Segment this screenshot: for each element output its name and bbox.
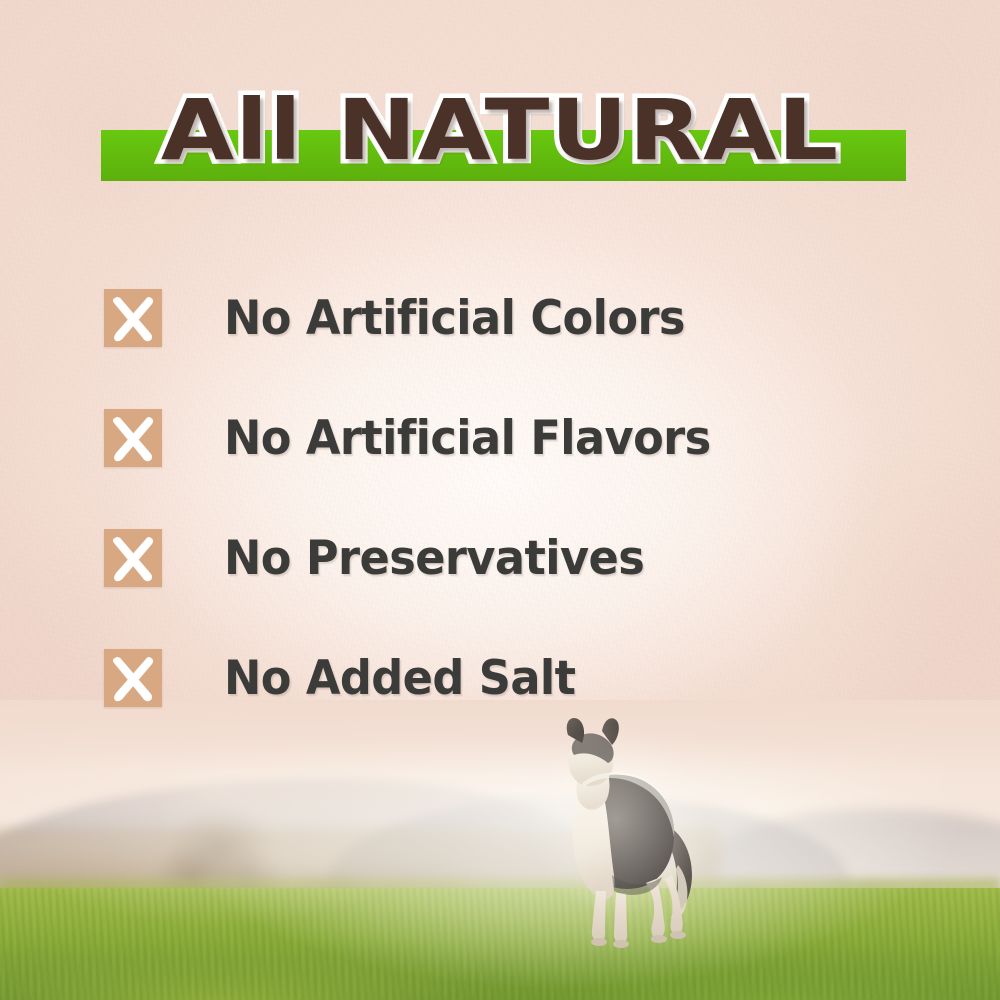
- list-item-label: No Preservatives: [224, 531, 644, 586]
- list-item-label: No Artificial Colors: [224, 291, 685, 346]
- border-collie-dog: [520, 715, 710, 950]
- list-item-label: No Added Salt: [224, 651, 575, 706]
- page-title: All NATURAL: [0, 78, 1000, 182]
- list-item: No Added Salt: [0, 618, 1000, 738]
- all-natural-product-panel: All NATURAL No Artificial Colors No Arti…: [0, 0, 1000, 1000]
- x-mark-icon: [104, 409, 162, 467]
- list-item-label: No Artificial Flavors: [224, 411, 711, 466]
- x-mark-icon: [104, 649, 162, 707]
- headline-block: All NATURAL: [0, 78, 1000, 188]
- list-item: No Preservatives: [0, 498, 1000, 618]
- list-item: No Artificial Colors: [0, 258, 1000, 378]
- x-mark-icon: [104, 289, 162, 347]
- list-item: No Artificial Flavors: [0, 378, 1000, 498]
- x-mark-icon: [104, 529, 162, 587]
- landscape-photo-scene: [0, 700, 1000, 1000]
- grass-blade-texture: [0, 888, 1000, 1000]
- feature-list: No Artificial Colors No Artificial Flavo…: [0, 258, 1000, 738]
